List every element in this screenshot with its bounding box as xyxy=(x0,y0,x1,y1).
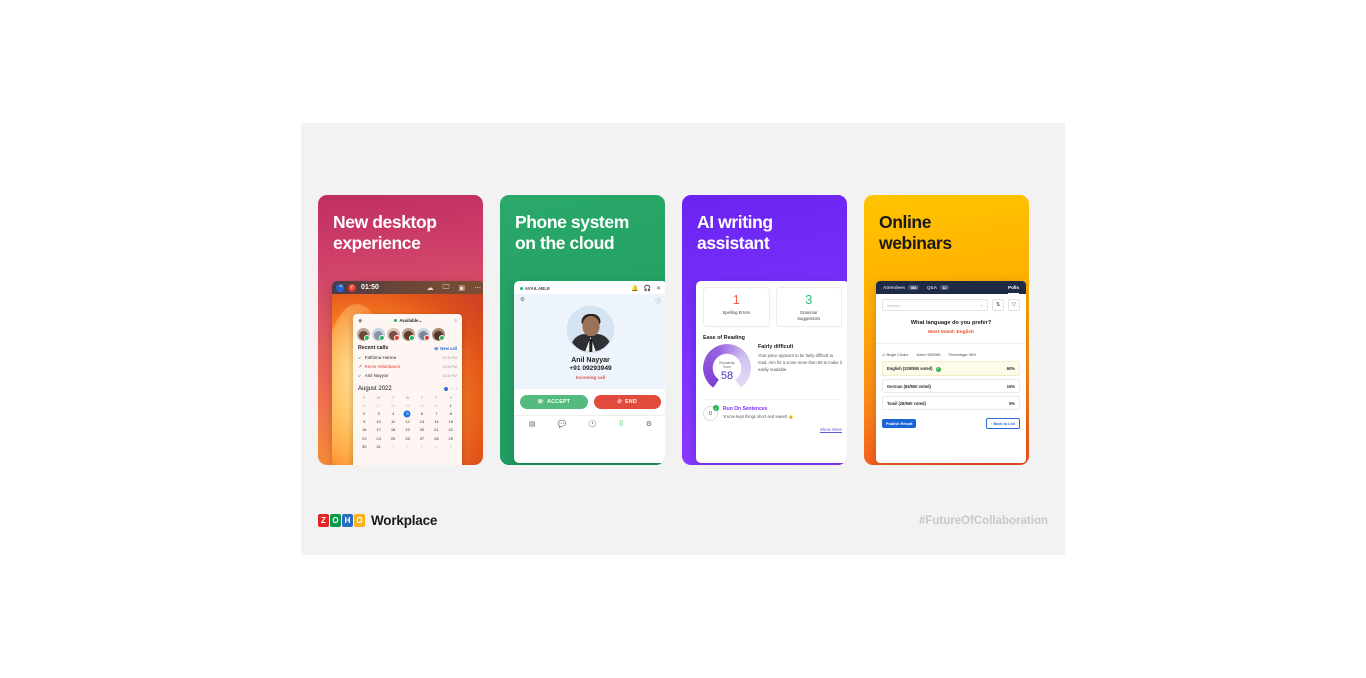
option-percent: 15% xyxy=(1007,384,1015,389)
calendar-day[interactable]: 31 xyxy=(429,402,443,410)
caller-photo xyxy=(567,306,614,353)
feature-cards: New desktopexperience 🎤 ✆ 01:50 ☁ 🖵 ▣ ⋯ … xyxy=(318,195,1029,465)
card-online-webinars[interactable]: Onlinewebinars Attendees984 Q&A12 Polls … xyxy=(864,195,1029,465)
poll-question: What language do you prefer? xyxy=(876,320,1026,326)
calendar-day[interactable]: 21 xyxy=(429,426,443,434)
missed-call-icon: ↗ xyxy=(358,364,362,370)
incoming-call-icon: ↙ xyxy=(358,373,362,379)
next-month-button[interactable]: › xyxy=(455,386,457,391)
calendar-day[interactable]: 4 xyxy=(429,443,443,451)
call-name: Fathima Hanna xyxy=(365,355,440,360)
run-on-text: You've kept things short and sweet! 👍 xyxy=(723,414,793,420)
avatar[interactable] xyxy=(357,328,370,341)
end-call-button[interactable]: ✆ END xyxy=(594,395,662,409)
spelling-errors-stat[interactable]: 1 Spelling Errors xyxy=(703,287,770,327)
panel-header: AVAILABLE 🔔 🎧 ✕ xyxy=(514,281,665,294)
qa-badge: 12 xyxy=(940,285,949,290)
call-name: Anil Nayyar xyxy=(365,373,440,378)
poll-percentage: Percentage: 56% xyxy=(949,353,977,357)
headset-icon[interactable]: 🎧 xyxy=(643,285,650,292)
webinar-screenshot: Attendees984 Q&A12 Polls Search ⌕ ⇅ ▽ Wh… xyxy=(876,281,1026,463)
app-header: ◉ Available⌄ ⌕ xyxy=(353,314,462,326)
calendar-month: August 2022 xyxy=(358,386,392,392)
calendar-day[interactable]: 29 xyxy=(400,402,414,410)
call-list-item[interactable]: ↙ Anil Nayyar 03:46 PM xyxy=(353,371,462,380)
call-list-item[interactable]: ↗ Kevin Velankanni 04:06 PM xyxy=(353,362,462,371)
card-ai-writing-assistant[interactable]: AI writingassistant 1 Spelling Errors 3 … xyxy=(682,195,847,465)
calendar-day[interactable]: 2 xyxy=(357,410,371,418)
calendar-header: August 2022 ‹ › xyxy=(353,381,462,394)
calendar-day[interactable]: 26 xyxy=(357,402,371,410)
call-toolbar: 🎤 ✆ 01:50 ☁ 🖵 ▣ ⋯ xyxy=(332,281,483,294)
today-icon[interactable] xyxy=(444,387,448,391)
caller-number: +91 09293949 xyxy=(520,365,661,372)
history-icon[interactable]: 🕐 xyxy=(588,420,597,428)
tab-qa[interactable]: Q&A12 xyxy=(927,285,949,290)
poll-option-row[interactable]: Tamil (28/550 voted) 5% xyxy=(882,396,1020,410)
webinar-tabs: Attendees984 Q&A12 Polls xyxy=(876,281,1026,294)
calendar-day[interactable]: 2 xyxy=(400,443,414,451)
contacts-icon[interactable]: ▤ xyxy=(529,420,536,428)
avatar[interactable] xyxy=(432,328,445,341)
back-to-list-button[interactable]: ‹ Back to List xyxy=(986,418,1020,429)
avatar-strip xyxy=(353,326,462,344)
call-name: Kevin Velankanni xyxy=(365,364,440,369)
avatar[interactable] xyxy=(402,328,415,341)
calendar-weekday: M xyxy=(371,394,385,402)
stat-value: 3 xyxy=(779,293,840,306)
calendar-day[interactable]: 6 xyxy=(415,410,429,418)
call-time: 04:10 PM xyxy=(442,356,457,360)
option-label: Tamil (28/550 voted) xyxy=(887,401,926,406)
calendar-day[interactable]: 14 xyxy=(429,418,443,426)
search-row: Search ⌕ ⇅ ▽ xyxy=(876,294,1026,315)
poll-option-row[interactable]: English (330/550 voted)✓ 60% xyxy=(882,361,1020,376)
availability-status[interactable]: AVAILABLE xyxy=(520,286,550,291)
recent-calls-header: Recent calls ☏ New call xyxy=(353,344,462,353)
brand-lockup: ZOHO Workplace xyxy=(318,513,437,528)
calendar-day[interactable]: 1 xyxy=(386,443,400,451)
writing-assistant-screenshot: 1 Spelling Errors 3 GrammarSuggestions E… xyxy=(696,281,847,463)
show-more-link[interactable]: Show More xyxy=(703,427,842,432)
more-icon[interactable]: ⋯ xyxy=(474,284,481,292)
search-icon[interactable]: ⌕ xyxy=(981,303,983,308)
dialpad-icon[interactable]: ⠿ xyxy=(619,420,624,428)
search-icon[interactable]: ⌕ xyxy=(454,318,457,324)
calendar-day[interactable]: 16 xyxy=(357,426,371,434)
tab-attendees[interactable]: Attendees984 xyxy=(883,285,919,290)
screen-share-icon[interactable]: 🖵 xyxy=(443,284,450,292)
check-icon: ✓ xyxy=(713,405,719,411)
logo-letter: O xyxy=(330,514,341,527)
calendar-day[interactable]: 7 xyxy=(429,410,443,418)
calendar-day[interactable]: 20 xyxy=(415,426,429,434)
close-icon[interactable]: ✕ xyxy=(656,285,661,292)
apps-icon[interactable]: ▣ xyxy=(458,284,465,292)
sort-icon[interactable]: ⇅ xyxy=(992,299,1004,311)
calendar-day[interactable]: 28 xyxy=(386,402,400,410)
recent-calls-label: Recent calls xyxy=(358,345,388,351)
most-voted-value: English xyxy=(957,330,974,335)
grammar-suggestions-stat[interactable]: 3 GrammarSuggestions xyxy=(776,287,843,327)
hashtag: #FutureOfCollaboration xyxy=(919,515,1048,527)
end-call-icon[interactable]: ✆ xyxy=(348,284,356,292)
calendar-day[interactable]: 26 xyxy=(400,435,414,443)
calendar-grid[interactable]: SMTWTFS262728293031123456789101112131415… xyxy=(353,394,462,451)
calendar-day[interactable]: 30 xyxy=(415,402,429,410)
availability-status[interactable]: Available⌄ xyxy=(394,318,422,324)
cloud-icon[interactable]: ☁ xyxy=(427,284,434,292)
settings-icon[interactable]: ⚙ xyxy=(520,297,525,305)
run-on-sentences-section: 0✓ Run On Sentences You've kept things s… xyxy=(703,399,842,421)
calendar-weekday: T xyxy=(415,394,429,402)
calendar-day[interactable]: 15 xyxy=(444,418,458,426)
calendar-weekday: F xyxy=(429,394,443,402)
option-percent: 60% xyxy=(1007,366,1015,371)
zoho-logo: ZOHO xyxy=(318,514,365,527)
most-voted: Most Voted: English xyxy=(876,330,1026,335)
calendar-day[interactable]: 27 xyxy=(415,435,429,443)
logo-letter: O xyxy=(354,514,365,527)
calendar-day[interactable]: 24 xyxy=(371,435,385,443)
calendar-day[interactable]: 23 xyxy=(357,435,371,443)
calendar-day[interactable]: 28 xyxy=(429,435,443,443)
poll-type: ◎ Single Choice xyxy=(882,353,908,357)
settings-icon[interactable]: ⚙ xyxy=(646,420,652,428)
calendar-day[interactable]: 12 xyxy=(400,418,414,426)
radio-icon: ◎ xyxy=(882,353,885,357)
run-on-title: Run On Sentences xyxy=(723,406,793,412)
stats-row: 1 Spelling Errors 3 GrammarSuggestions xyxy=(703,287,842,327)
calendar-day[interactable]: 17 xyxy=(371,426,385,434)
avatar[interactable] xyxy=(372,328,385,341)
info-icon[interactable]: ⓘ xyxy=(655,297,661,305)
run-on-count: 0✓ xyxy=(703,406,718,421)
calendar-day[interactable]: 1 xyxy=(444,402,458,410)
footer: ZOHO Workplace #FutureOfCollaboration xyxy=(318,513,1048,528)
calendar-day[interactable]: 27 xyxy=(371,402,385,410)
calendar-day[interactable]: 4 xyxy=(386,410,400,418)
microphone-icon[interactable]: 🎤 xyxy=(336,284,344,292)
poll-footer: Publish Result ‹ Back to List xyxy=(876,413,1026,434)
calendar-day[interactable]: 9 xyxy=(357,418,371,426)
calendar-day[interactable]: 11 xyxy=(386,418,400,426)
card-phone-system[interactable]: Phone systemon the cloud AVAILABLE 🔔 🎧 ✕… xyxy=(500,195,665,465)
option-label: German (83/550 voted) xyxy=(887,384,931,389)
verdict-text: Your piece appears to be fairly difficul… xyxy=(758,353,842,373)
calendar-day[interactable]: 30 xyxy=(357,443,371,451)
calendar-day[interactable]: 29 xyxy=(444,435,458,443)
calendar-day[interactable]: 22 xyxy=(444,426,458,434)
calendar-day[interactable]: 18 xyxy=(386,426,400,434)
avatar[interactable] xyxy=(417,328,430,341)
calendar-day[interactable]: 3 xyxy=(415,443,429,451)
accept-call-button[interactable]: ☏ ACCEPT xyxy=(520,395,588,409)
search-placeholder: Search xyxy=(887,303,900,308)
logo-letter: H xyxy=(342,514,353,527)
call-state: Incoming call xyxy=(520,375,661,380)
call-time: 04:06 PM xyxy=(442,365,457,369)
call-timer: 01:50 xyxy=(361,284,379,291)
calendar-weekday: T xyxy=(386,394,400,402)
readability-gauge: ReadabilityScore 58 xyxy=(703,344,751,392)
desktop-screenshot: 🎤 ✆ 01:50 ☁ 🖵 ▣ ⋯ ◉ Available⌄ ⌕ xyxy=(332,281,483,465)
calendar-day[interactable]: 3 xyxy=(371,410,385,418)
stat-value: 1 xyxy=(706,293,767,306)
incoming-call-icon: ↙ xyxy=(358,355,362,361)
publish-result-button[interactable]: Publish Result xyxy=(882,419,916,428)
prev-month-button[interactable]: ‹ xyxy=(451,386,453,391)
call-list-item[interactable]: ↙ Fathima Hanna 04:10 PM xyxy=(353,353,462,362)
stat-label: GrammarSuggestions xyxy=(779,310,840,321)
gauge-label: ReadabilityScore xyxy=(703,361,751,369)
calendar-weekday: S xyxy=(357,394,371,402)
call-time: 03:46 PM xyxy=(442,374,457,378)
card-new-desktop-experience[interactable]: New desktopexperience 🎤 ✆ 01:50 ☁ 🖵 ▣ ⋯ … xyxy=(318,195,483,465)
search-input[interactable]: Search ⌕ xyxy=(882,299,988,311)
stat-label: Spelling Errors xyxy=(706,310,767,316)
caller-name: Anil Nayyar xyxy=(520,357,661,364)
card-title: Onlinewebinars xyxy=(879,212,1019,255)
phone-app-window: ◉ Available⌄ ⌕ R xyxy=(353,314,462,465)
option-label: English (330/550 voted) xyxy=(887,366,933,371)
card-title: AI writingassistant xyxy=(697,212,837,255)
calendar-day[interactable]: 31 xyxy=(371,443,385,451)
poll-meta: ◎ Single Choice Voted: 550/984 Percentag… xyxy=(876,343,1026,361)
calendar-weekday: W xyxy=(400,394,414,402)
phone-app-toolbar: ▤ 💬 🕐 ⠿ ⚙ xyxy=(514,415,665,433)
winner-check-icon: ✓ xyxy=(936,367,941,372)
card-title: New desktopexperience xyxy=(333,212,473,255)
bell-icon[interactable]: 🔔 xyxy=(631,285,638,292)
new-call-button[interactable]: ☏ New call xyxy=(434,346,457,351)
desktop-wallpaper: ◉ Available⌄ ⌕ R xyxy=(332,294,483,465)
card-title: Phone systemon the cloud xyxy=(515,212,655,255)
brand-word: Workplace xyxy=(371,513,437,528)
phone-app-screenshot: AVAILABLE 🔔 🎧 ✕ ⚙ ⓘ xyxy=(514,281,665,463)
verdict-title: Fairly difficult xyxy=(758,344,842,350)
call-actions: ☏ ACCEPT ✆ END xyxy=(514,389,665,415)
poll-voted: Voted: 550/984 xyxy=(916,353,940,357)
back-icon[interactable]: ◉ xyxy=(358,318,362,324)
calendar-day[interactable]: 13 xyxy=(415,418,429,426)
option-percent: 5% xyxy=(1009,401,1015,406)
logo-letter: Z xyxy=(318,514,329,527)
calendar-day[interactable]: 19 xyxy=(400,426,414,434)
calendar-weekday: S xyxy=(444,394,458,402)
incoming-call-body: ⚙ ⓘ Anil Nayyar +91 09293949 Incoming ca… xyxy=(514,294,665,389)
calendar-day[interactable]: 5 xyxy=(444,443,458,451)
chat-icon[interactable]: 💬 xyxy=(557,420,566,428)
attendees-badge: 984 xyxy=(908,285,919,290)
ease-of-reading-title: Ease of Reading xyxy=(703,335,842,341)
presentation-panel: New desktopexperience 🎤 ✆ 01:50 ☁ 🖵 ▣ ⋯ … xyxy=(301,123,1065,555)
tab-polls[interactable]: Polls xyxy=(1008,285,1019,290)
poll-option-row[interactable]: German (83/550 voted) 15% xyxy=(882,379,1020,393)
calendar-day[interactable]: 10 xyxy=(371,418,385,426)
calendar-day[interactable]: 5 xyxy=(400,410,414,418)
calendar-day[interactable]: 8 xyxy=(444,410,458,418)
avatar[interactable] xyxy=(387,328,400,341)
calendar-day[interactable]: 25 xyxy=(386,435,400,443)
gauge-value: 58 xyxy=(703,370,751,382)
filter-icon[interactable]: ▽ xyxy=(1008,299,1020,311)
